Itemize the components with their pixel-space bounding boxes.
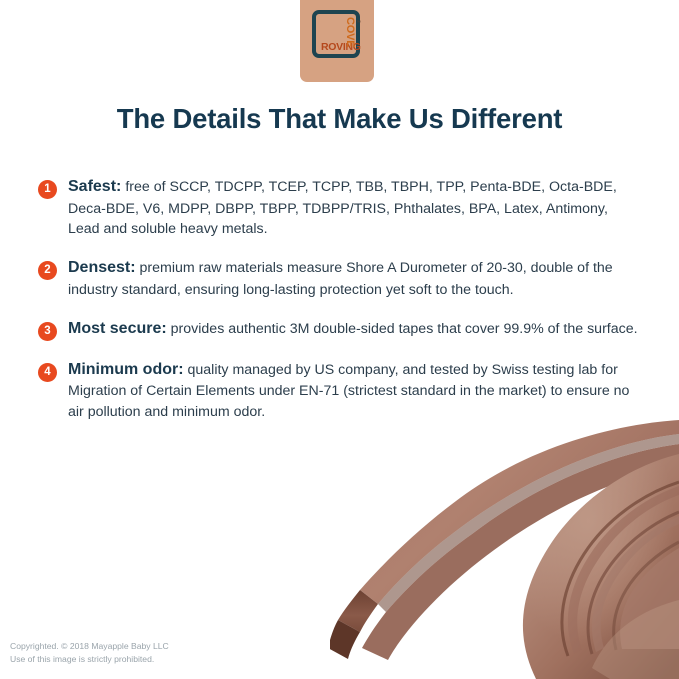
list-item: 4 Minimum odor: quality managed by US co… (38, 359, 638, 422)
list-number-badge: 1 (38, 180, 57, 199)
list-number-badge: 4 (38, 363, 57, 382)
list-number-badge: 2 (38, 261, 57, 280)
foam-coil-ring-1 (568, 486, 679, 654)
foam-strip-top-face (360, 420, 679, 604)
foam-strip-edge-shadow (378, 434, 679, 612)
page-title: The Details That Make Us Different (0, 103, 679, 135)
list-item-text: Densest: premium raw materials measure S… (68, 257, 638, 300)
foam-strip-lower-face (362, 444, 679, 660)
foam-strip-side-face (338, 590, 378, 632)
list-number-badge: 3 (38, 322, 57, 341)
list-item-body: free of SCCP, TDCPP, TCEP, TCPP, TBB, TB… (68, 179, 617, 237)
list-item-body: provides authentic 3M double-sided tapes… (171, 321, 638, 337)
trademark-icon: ™ (356, 20, 361, 26)
foam-coil-inner-core (620, 548, 679, 649)
foam-coil-specular (592, 600, 679, 679)
list-item-label: Minimum odor: (68, 361, 184, 378)
foam-coil-outer (523, 454, 679, 679)
foam-coil-groove-3 (614, 542, 679, 650)
logo-word-cove: COVE (344, 17, 355, 47)
foam-coil-groove-1 (562, 482, 679, 656)
list-item: 3 Most secure: provides authentic 3M dou… (38, 318, 638, 341)
feature-list: 1 Safest: free of SCCP, TDCPP, TCEP, TCP… (38, 176, 638, 440)
list-item-label: Safest: (68, 178, 121, 195)
list-item-text: Minimum odor: quality managed by US comp… (68, 359, 638, 422)
list-item: 2 Densest: premium raw materials measure… (38, 257, 638, 300)
product-photo (330, 420, 679, 679)
foam-coil-ring-2 (592, 516, 679, 652)
foam-coil-groove-2 (588, 512, 679, 654)
list-item-label: Most secure: (68, 320, 167, 337)
list-item-text: Safest: free of SCCP, TDCPP, TCEP, TCPP,… (68, 176, 638, 239)
copyright-line-1: Copyrighted. © 2018 Mayapple Baby LLC (10, 640, 169, 652)
copyright-line-2: Use of this image is strictly prohibited… (10, 653, 169, 665)
list-item-body: premium raw materials measure Shore A Du… (68, 260, 613, 298)
foam-coil-highlight (523, 454, 679, 679)
foam-strip-end-cap (330, 620, 360, 659)
brand-logo: ROVING COVE ™ (300, 0, 374, 82)
logo-frame: ROVING COVE ™ (312, 10, 360, 58)
list-item-text: Most secure: provides authentic 3M doubl… (68, 318, 638, 341)
copyright-footer: Copyrighted. © 2018 Mayapple Baby LLC Us… (10, 640, 169, 665)
list-item-label: Densest: (68, 259, 136, 276)
list-item: 1 Safest: free of SCCP, TDCPP, TCEP, TCP… (38, 176, 638, 239)
product-detail-infographic: ROVING COVE ™ The Details That Make Us D… (0, 0, 679, 679)
